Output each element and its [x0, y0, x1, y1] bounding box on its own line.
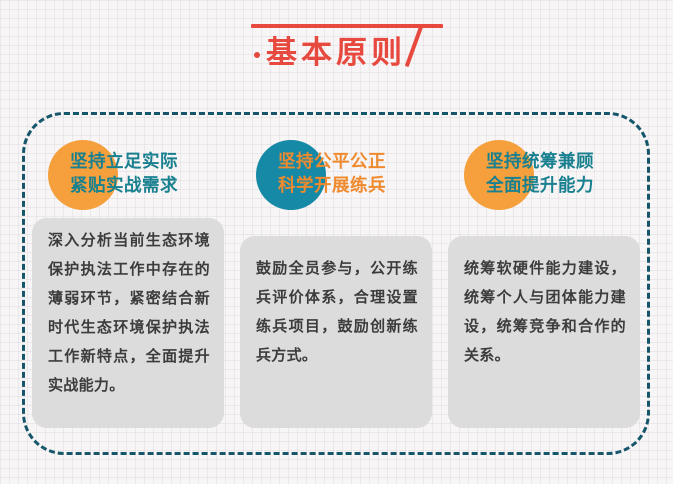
- principle-card-3: 统筹软硬件能力建设，统筹个人与团体能力建设，统筹竞争和合作的关系。: [448, 236, 640, 428]
- principle-heading-3: 坚持统筹兼顾 全面提升能力: [486, 150, 646, 198]
- principle-body-3: 统筹软硬件能力建设，统筹个人与团体能力建设，统筹竞争和合作的关系。: [464, 254, 626, 370]
- principle-column-3: 坚持统筹兼顾 全面提升能力 统筹软硬件能力建设，统筹个人与团体能力建设，统筹竞争…: [448, 128, 640, 428]
- principle-heading-1: 坚持立足实际 紧贴实战需求: [70, 150, 230, 198]
- infographic-poster: 基本原则 坚持立足实际 紧贴实战需求 深入分析当前生态环境保护执法工作中存在的薄…: [0, 0, 673, 484]
- page-title: 基本原则: [266, 33, 406, 73]
- bullet-dot-icon: [254, 52, 260, 58]
- horizontal-rule-icon: [251, 24, 443, 28]
- principle-column-2: 坚持公平公正 科学开展练兵 鼓励全员参与，公开练兵评价体系，合理设置练兵项目，鼓…: [240, 128, 432, 428]
- principle-body-2: 鼓励全员参与，公开练兵评价体系，合理设置练兵项目，鼓励创新练兵方式。: [256, 254, 418, 370]
- diagonal-slash-icon: [405, 26, 423, 67]
- principle-heading-2: 坚持公平公正 科学开展练兵: [278, 150, 438, 198]
- principle-body-1: 深入分析当前生态环境保护执法工作中存在的薄弱环节，紧密结合新时代生态环境保护执法…: [48, 226, 210, 400]
- principle-column-1: 坚持立足实际 紧贴实战需求 深入分析当前生态环境保护执法工作中存在的薄弱环节，紧…: [32, 128, 224, 428]
- principle-card-1: 深入分析当前生态环境保护执法工作中存在的薄弱环节，紧密结合新时代生态环境保护执法…: [32, 218, 224, 428]
- principle-card-2: 鼓励全员参与，公开练兵评价体系，合理设置练兵项目，鼓励创新练兵方式。: [240, 236, 432, 428]
- title-block: 基本原则: [248, 24, 448, 76]
- principles-columns: 坚持立足实际 紧贴实战需求 深入分析当前生态环境保护执法工作中存在的薄弱环节，紧…: [32, 128, 640, 428]
